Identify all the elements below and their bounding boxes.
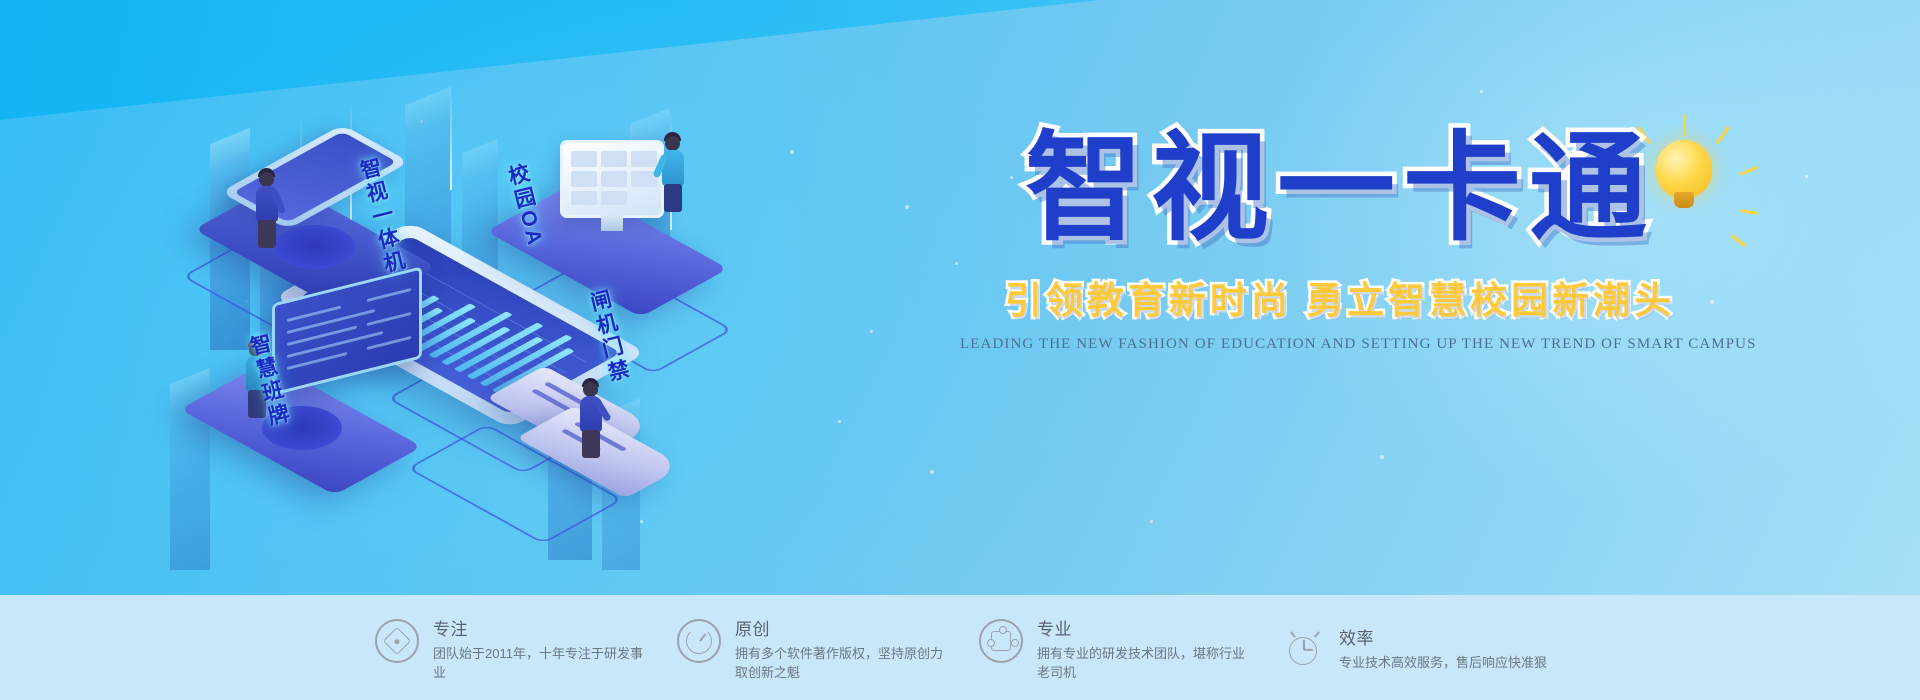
feature-description: 专业技术高效服务，售后响应快准狠: [1339, 654, 1549, 673]
compass-icon: [375, 619, 419, 663]
feature-title: 专注: [433, 615, 643, 640]
english-tagline: LEADING THE NEW FASHION OF EDUCATION AND…: [960, 336, 1720, 353]
page-subtitle: 引领教育新时尚 勇立智慧校园新潮头: [960, 270, 1720, 324]
feature-title: 专业: [1037, 615, 1247, 640]
feature-item-focus: 专注 团队始于2011年，十年专注于研发事业: [375, 613, 677, 683]
light-beam: [450, 90, 452, 190]
alarm-clock-icon: [1281, 628, 1325, 672]
feature-description: 团队始于2011年，十年专注于研发事业: [433, 645, 643, 683]
feature-title: 效率: [1339, 624, 1549, 649]
feature-item-original: 原创 拥有多个软件著作版权，坚持原创力取创新之魁: [677, 613, 979, 683]
headline-block: 智视一卡通 引领教育新时尚 勇立智慧校园新潮头 LEADING THE NEW …: [960, 130, 1720, 353]
feature-description: 拥有多个软件著作版权，坚持原创力取创新之魁: [735, 645, 945, 683]
feature-item-professional: 专业 拥有专业的研发技术团队，堪称行业老司机: [979, 613, 1281, 683]
isometric-illustration: 智视一体机 校园OA 智慧班牌 闸机门禁: [150, 90, 870, 570]
page-title: 智视一卡通: [960, 130, 1720, 248]
promotional-banner: 智视一体机 校园OA 智慧班牌 闸机门禁 智视一卡通 引领教育新时尚 勇立智慧校…: [0, 0, 1920, 700]
feature-title: 原创: [735, 615, 945, 640]
feature-item-efficiency: 效率 专业技术高效服务，售后响应快准狠: [1281, 622, 1583, 673]
stopwatch-icon: [677, 619, 721, 663]
monitor-stand: [601, 215, 623, 231]
platform-disc: [275, 225, 355, 269]
puzzle-icon: [979, 619, 1023, 663]
feature-description: 拥有专业的研发技术团队，堪称行业老司机: [1037, 645, 1247, 683]
feature-bar: 专注 团队始于2011年，十年专注于研发事业 原创 拥有多个软件著作版权，坚持原…: [0, 595, 1920, 700]
device-monitor: [560, 140, 664, 218]
